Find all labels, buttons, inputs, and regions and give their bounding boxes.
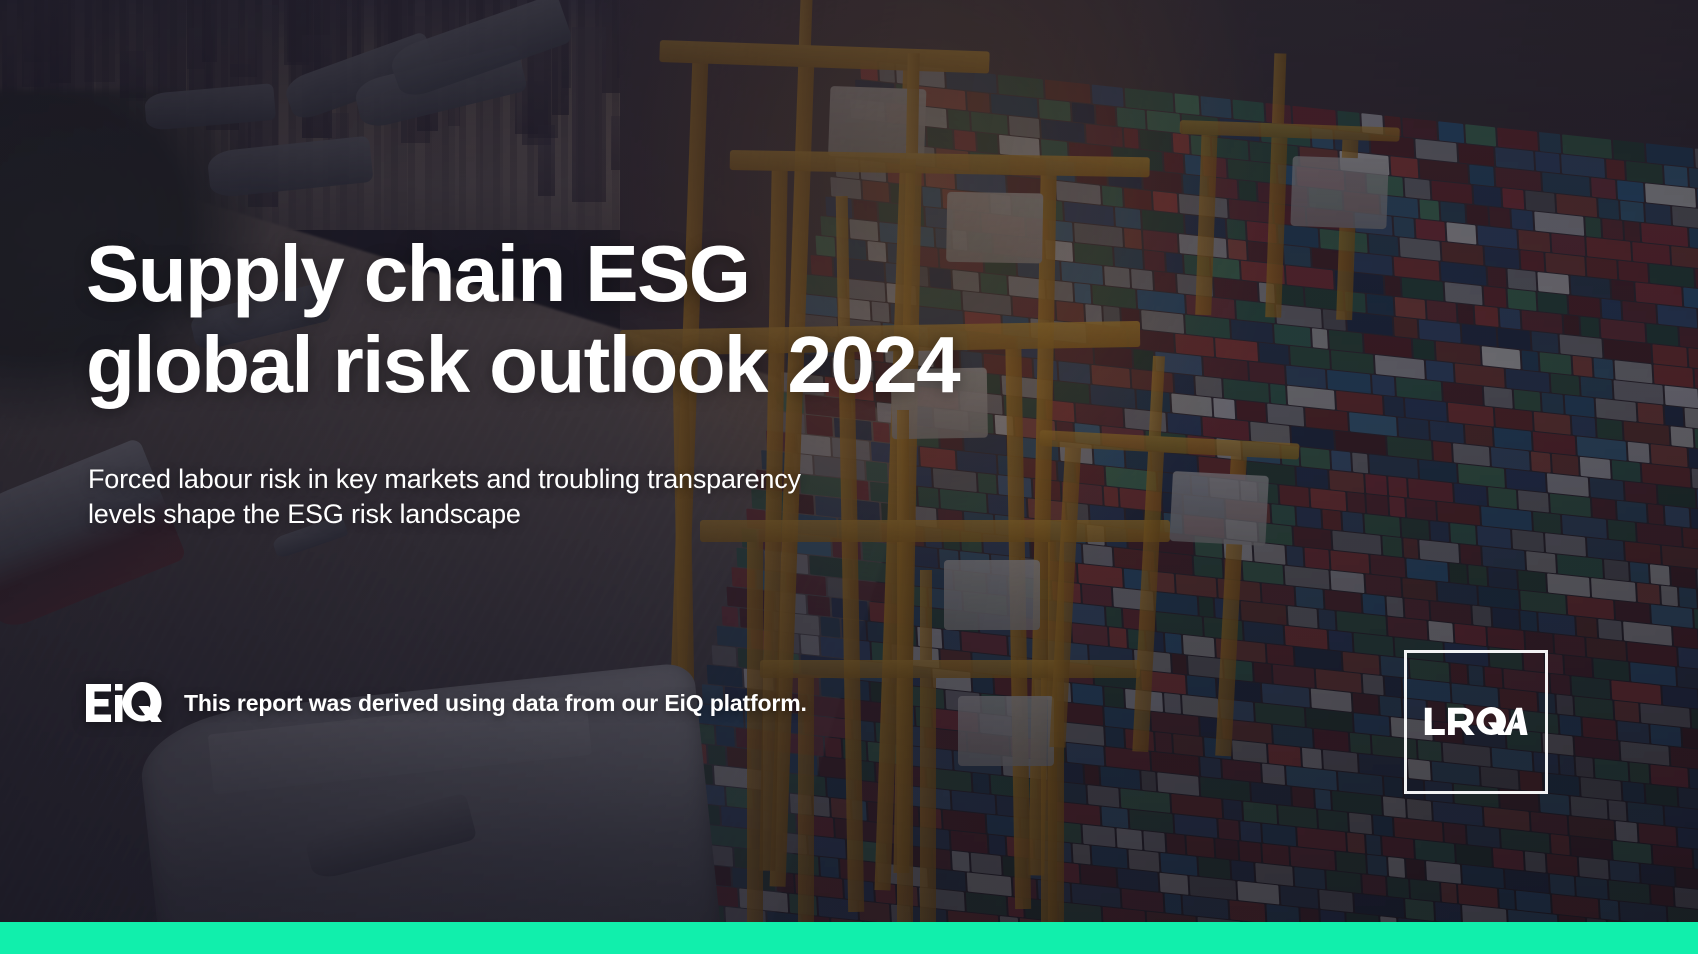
report-cover: Supply chain ESG global risk outlook 202… bbox=[0, 0, 1698, 954]
page-title: Supply chain ESG global risk outlook 202… bbox=[86, 228, 1086, 410]
page-subtitle-line-2: levels shape the ESG risk landscape bbox=[88, 497, 868, 532]
attribution-row: This report was derived using data from … bbox=[86, 682, 807, 724]
cover-content: Supply chain ESG global risk outlook 202… bbox=[0, 0, 1698, 922]
page-title-line-2: global risk outlook 2024 bbox=[86, 319, 1086, 410]
eiq-logo-icon bbox=[86, 682, 162, 724]
lrqa-logo-icon bbox=[1424, 707, 1528, 737]
bottom-accent-bar bbox=[0, 922, 1698, 954]
lrqa-logo-badge bbox=[1404, 650, 1548, 794]
page-subtitle: Forced labour risk in key markets and tr… bbox=[88, 462, 868, 532]
page-subtitle-line-1: Forced labour risk in key markets and tr… bbox=[88, 462, 868, 497]
page-title-line-1: Supply chain ESG bbox=[86, 228, 1086, 319]
attribution-text: This report was derived using data from … bbox=[184, 690, 807, 717]
